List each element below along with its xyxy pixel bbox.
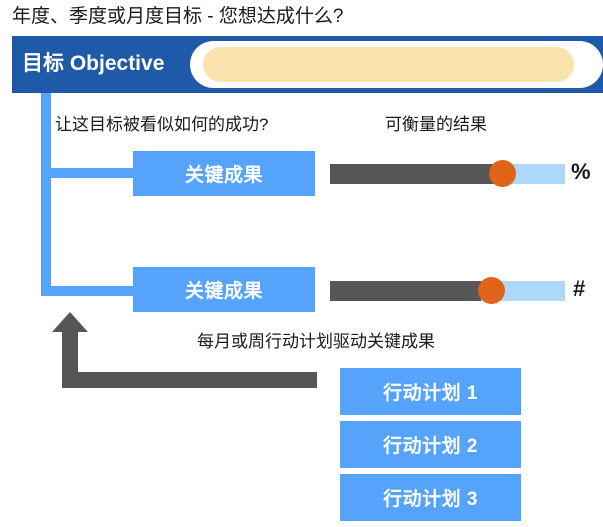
key-result-progress-slider-1[interactable] — [330, 164, 565, 184]
slider-track-filled-2 — [330, 281, 481, 301]
key-result-progress-slider-2[interactable] — [330, 281, 565, 301]
caption-measurable-result: 可衡量的结果 — [385, 113, 487, 137]
action-plan-label-3: 行动计划 3 — [383, 484, 478, 511]
slider-knob-1[interactable] — [489, 160, 516, 187]
connector-branch-key-result-1 — [41, 168, 139, 178]
caption-action-plan-drives: 每月或周行动计划驱动关键成果 — [197, 330, 435, 354]
page-title: 年度、季度或月度目标 - 您想达成什么? — [12, 4, 343, 30]
action-plan-box-3[interactable]: 行动计划 3 — [340, 474, 521, 521]
key-result-box-1[interactable]: 关键成果 — [133, 151, 315, 196]
action-plan-label-2: 行动计划 2 — [383, 431, 478, 458]
connector-branch-key-result-2 — [41, 286, 139, 296]
action-plan-box-2[interactable]: 行动计划 2 — [340, 421, 521, 468]
slider-knob-2[interactable] — [478, 277, 505, 304]
key-result-unit-2: # — [573, 279, 585, 299]
action-plan-box-1[interactable]: 行动计划 1 — [340, 368, 521, 415]
okr-diagram-canvas: 年度、季度或月度目标 - 您想达成什么? 目标 Objective 让这目标被看… — [0, 0, 603, 527]
key-result-box-2[interactable]: 关键成果 — [133, 267, 315, 312]
caption-success-question: 让这目标被看似如何的成功? — [55, 113, 268, 137]
objective-label: 目标 Objective — [22, 50, 164, 78]
key-result-label-1: 关键成果 — [185, 160, 263, 187]
key-result-unit-1: % — [571, 162, 591, 182]
action-plan-label-1: 行动计划 1 — [383, 378, 478, 405]
slider-track-filled-1 — [330, 164, 496, 184]
key-result-label-2: 关键成果 — [185, 276, 263, 303]
objective-capsule-input[interactable] — [203, 47, 574, 82]
connector-vertical-trunk — [41, 93, 51, 296]
objective-banner: 目标 Objective — [12, 36, 603, 93]
